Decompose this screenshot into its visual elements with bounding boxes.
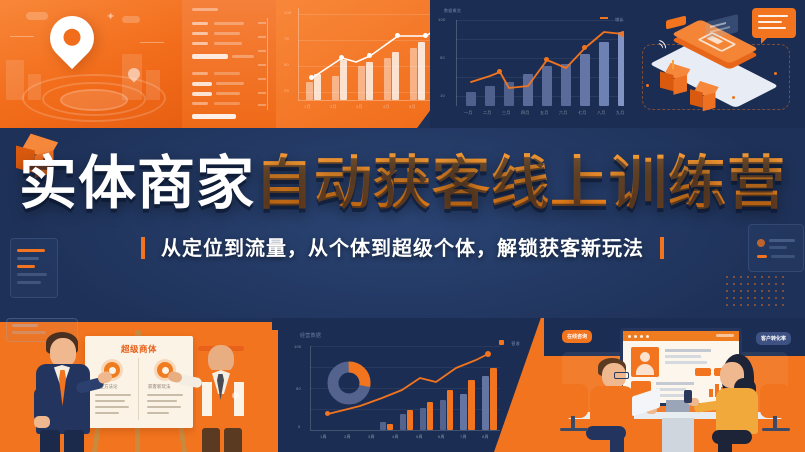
chat-bubble-right: 客户转化率	[756, 332, 791, 345]
window-titlebar	[623, 331, 739, 341]
cloud-icon	[122, 16, 140, 23]
bottom-dashboard-chart: 经营数据 营收	[272, 318, 544, 452]
cloud-icon	[26, 12, 48, 20]
page-title: 实体商家自动获客线上训练营	[19, 149, 786, 217]
subtitle-wrapper: 从定位到流量，从个体到超级个体，解锁获客新玩法	[0, 232, 805, 261]
office-chair-left	[558, 384, 592, 430]
location-pin-icon	[41, 7, 103, 69]
dot-grid-decoration	[726, 276, 788, 310]
chart-title: 数据概览	[444, 8, 461, 14]
chart-title: 经营数据	[300, 332, 321, 339]
headline-orange-part: 自动获客线上训练营	[255, 149, 786, 217]
sparkle-icon: ✦	[106, 12, 115, 23]
center-banner: 实体商家自动获客线上训练营 从定位到流量，从个体到超级个体，解锁获客新玩法	[0, 128, 805, 318]
legend-label: 营收	[511, 341, 520, 346]
top-strip: ✦	[0, 0, 805, 128]
poster-canvas: ✦	[0, 0, 805, 452]
worker-with-helmet	[192, 330, 264, 452]
page-subtitle: 从定位到流量，从个体到超级个体，解锁获客新玩法	[161, 232, 644, 261]
headline-white-part: 实体商家	[19, 149, 255, 217]
antenna-icon	[672, 60, 674, 69]
speech-bubble-icon	[752, 8, 796, 38]
office-chair-right	[758, 384, 792, 430]
office-meeting-scene: 在线咨询 客户转化率	[544, 318, 805, 452]
navy-trend-chart: 数据概览 增长率	[430, 0, 642, 128]
businessman-in-suit	[32, 332, 102, 452]
badge-label: 获客新玩法	[148, 384, 171, 390]
isometric-platform-illustration	[624, 0, 805, 128]
chart-legend: 营收	[499, 332, 520, 350]
chat-bubble-left: 在线咨询	[562, 330, 592, 343]
presenters-with-easel-scene: 超级商体 定位方法论 获客新玩法	[0, 318, 272, 452]
subtitle-left-bar	[141, 237, 145, 259]
phone-icon	[684, 390, 692, 403]
glasses-icon	[614, 372, 629, 379]
location-pin-panel: ✦	[0, 0, 182, 128]
headline-wrapper: 实体商家自动获客线上训练营	[0, 154, 805, 212]
subtitle-right-bar	[660, 237, 664, 259]
bottom-strip: 超级商体 定位方法论 获客新玩法	[0, 318, 805, 452]
data-list-panel	[182, 0, 276, 128]
